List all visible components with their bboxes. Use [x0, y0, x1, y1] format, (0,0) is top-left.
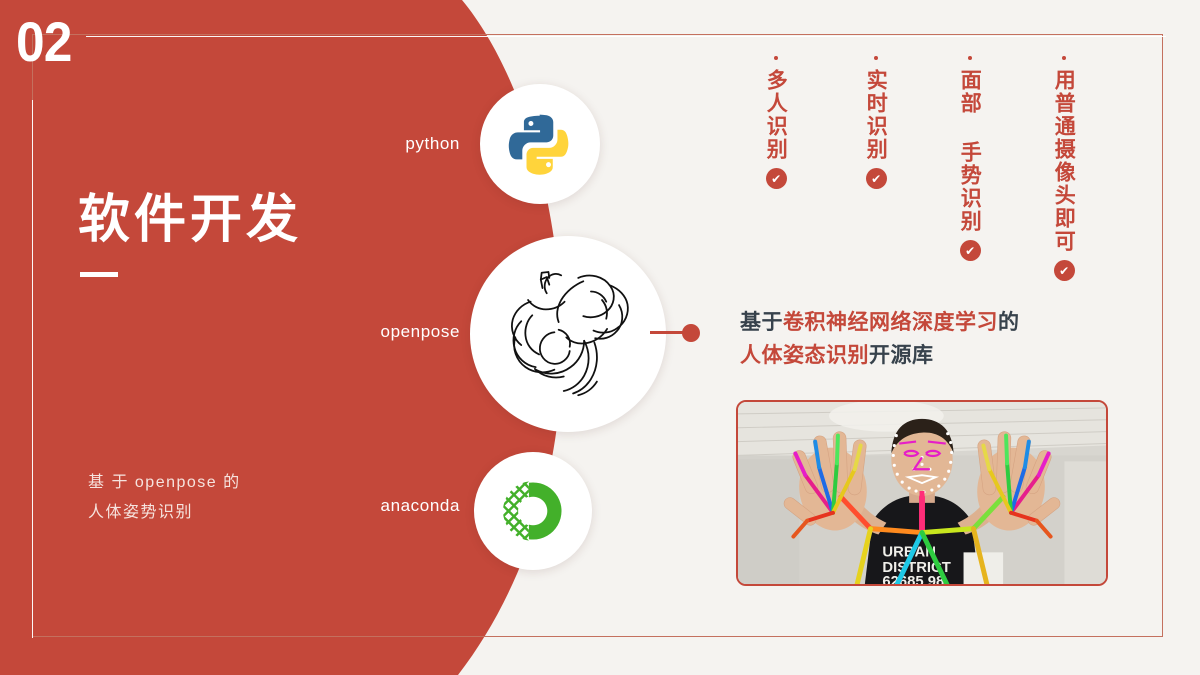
desc-seg-1: 基于 [740, 310, 783, 334]
python-logo-icon [507, 111, 573, 177]
section-number: 02 [16, 14, 71, 70]
feature-dot-icon [1062, 56, 1066, 60]
tech-label-openpose: openpose [260, 322, 460, 342]
feature-item-3: 用普通摄像头即可 ✔ [1053, 56, 1075, 281]
subtitle-line-2: 人体姿势识别 [88, 498, 241, 528]
desc-seg-3: 的 [998, 310, 1020, 334]
feature-text: 用普通摄像头即可 [1053, 69, 1075, 253]
anaconda-logo-icon [499, 477, 567, 545]
feature-dot-icon [874, 56, 878, 60]
title-underline-dash [80, 272, 118, 277]
feature-text: 实时识别 [865, 69, 887, 161]
tech-label-python: python [280, 134, 460, 154]
description-text: 基于卷积神经网络深度学习的人体姿态识别开源库 [740, 306, 1120, 371]
feature-dot-icon [774, 56, 778, 60]
tech-circle-python[interactable] [480, 84, 600, 204]
openpose-logo-icon [483, 249, 653, 419]
vertical-rule [32, 100, 33, 638]
feature-item-1: 实时识别 ✔ [865, 56, 887, 189]
header-rule [86, 36, 1166, 37]
desc-seg-2-highlight: 卷积神经网络深度学习 [783, 310, 998, 334]
feature-text: 面部 手势识别 [959, 69, 981, 233]
check-circle-icon: ✔ [866, 168, 887, 189]
check-circle-icon: ✔ [1054, 260, 1075, 281]
openpose-demo-image: URBAN DISTRICT 62685 98 [738, 402, 1106, 586]
tech-circle-openpose[interactable] [470, 236, 666, 432]
tech-label-anaconda: anaconda [260, 496, 460, 516]
feature-item-0: 多人识别 ✔ [765, 56, 787, 189]
page-title: 软件开发 [78, 192, 302, 249]
subtitle-line-1: 基 于 openpose 的 [88, 468, 241, 498]
subtitle-block: 基 于 openpose 的 人体姿势识别 [88, 468, 241, 527]
check-circle-icon: ✔ [960, 240, 981, 261]
tech-circle-anaconda[interactable] [474, 452, 592, 570]
feature-text: 多人识别 [765, 69, 787, 161]
connector-dot [682, 324, 700, 342]
feature-dot-icon [968, 56, 972, 60]
feature-item-2: 面部 手势识别 ✔ [959, 56, 981, 261]
demo-photo: URBAN DISTRICT 62685 98 [736, 400, 1108, 586]
slide-root: 02 软件开发 基 于 openpose 的 人体姿势识别 python ope… [0, 0, 1200, 675]
desc-seg-5: 开源库 [869, 343, 934, 367]
desc-seg-4-highlight: 人体姿态识别 [740, 343, 869, 367]
check-circle-icon: ✔ [766, 168, 787, 189]
shirt-text-3: 62685 98 [882, 574, 944, 586]
